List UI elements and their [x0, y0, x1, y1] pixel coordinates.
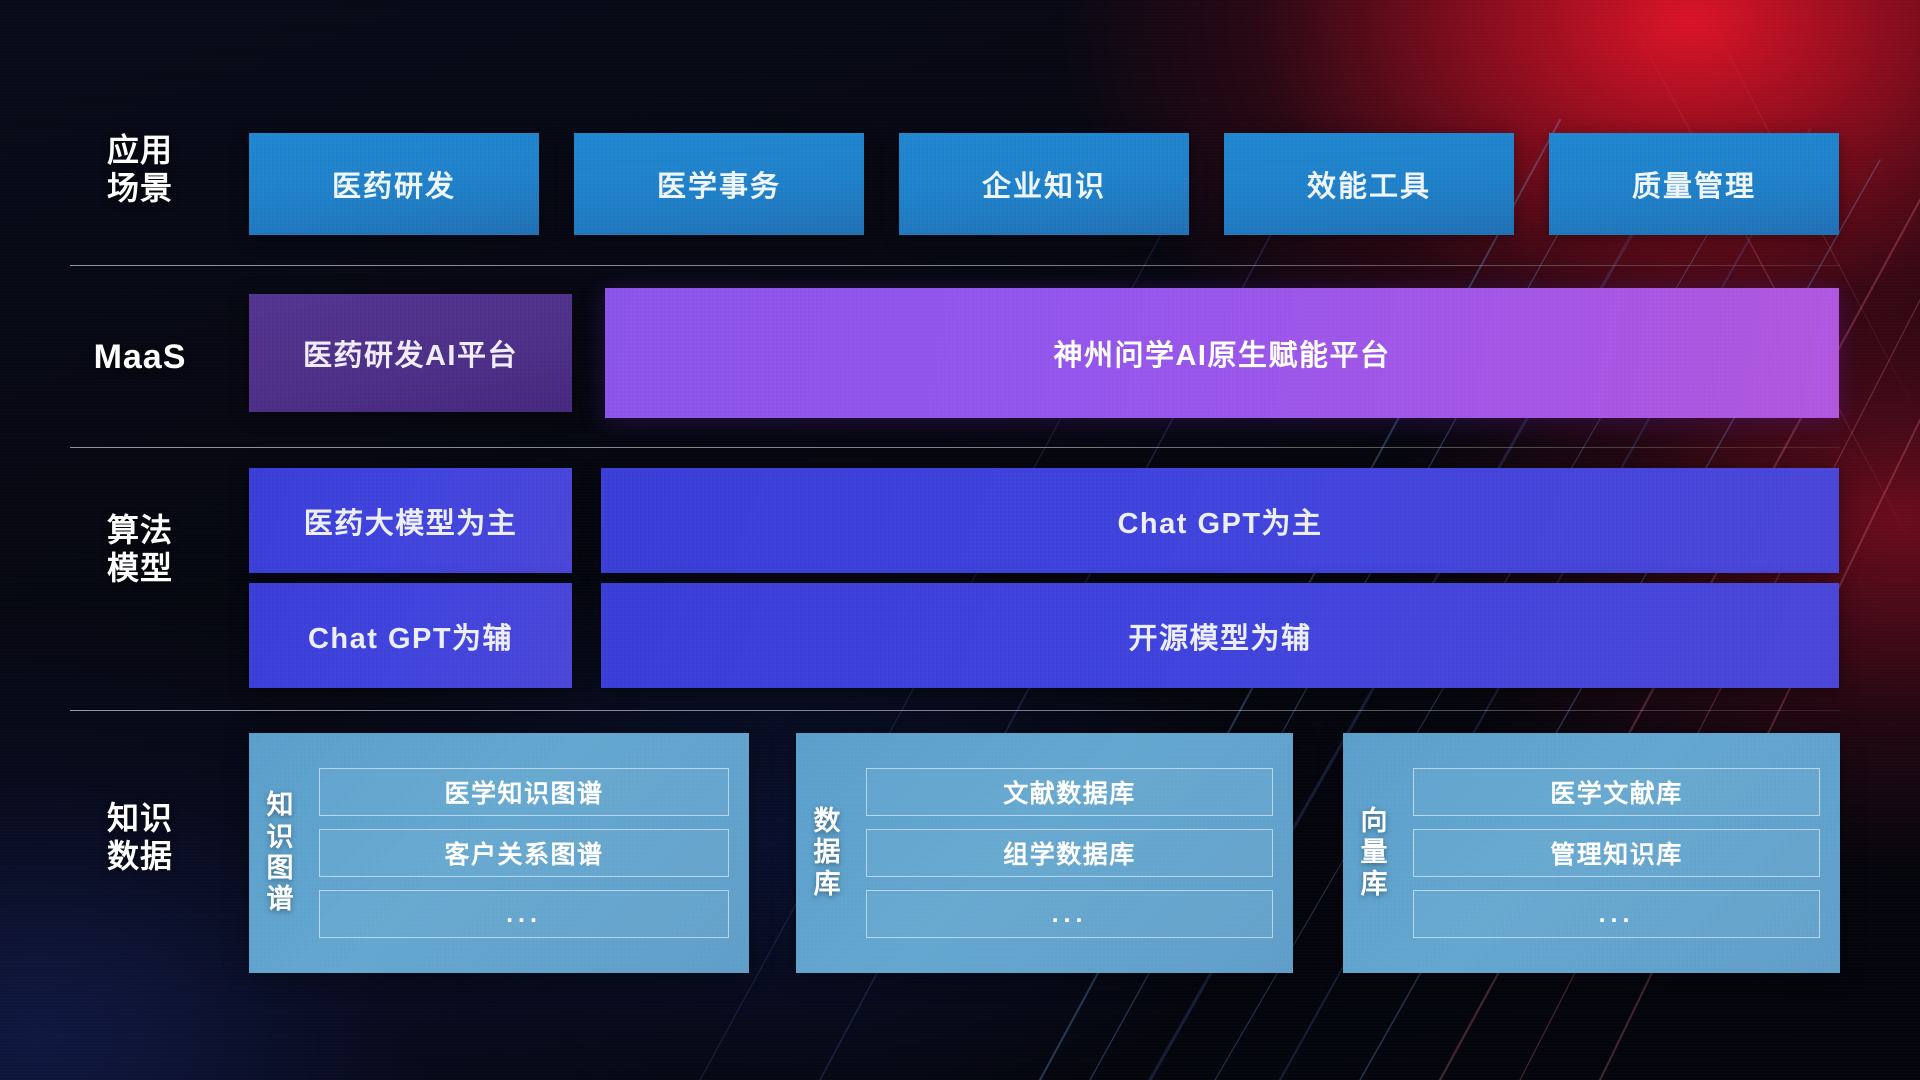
- scenario-box-4[interactable]: 效能工具: [1224, 133, 1514, 235]
- knowledge-panel-database-title-char-3: 库: [814, 869, 841, 900]
- row-label-maas-line1: MaaS: [80, 337, 200, 377]
- divider-scenario-maas: [70, 265, 1840, 266]
- knowledge-panel-vector-title: 向 量 库: [1343, 733, 1405, 973]
- maas-platform-box-left-label: 医药研发AI平台: [303, 332, 518, 374]
- row-label-scenario: 应用 场景: [80, 132, 200, 208]
- algorithm-box-primary-left[interactable]: 医药大模型为主: [249, 468, 572, 573]
- knowledge-item-medical-literature[interactable]: 医学文献库: [1413, 768, 1820, 816]
- knowledge-panel-vector[interactable]: 向 量 库 医学文献库 管理知识库 ...: [1343, 733, 1840, 973]
- knowledge-item-customer-graph[interactable]: 客户关系图谱: [319, 829, 729, 877]
- row-label-algorithm-line1: 算法: [80, 512, 200, 550]
- knowledge-item-management-kb[interactable]: 管理知识库: [1413, 829, 1820, 877]
- algorithm-box-secondary-left-label: Chat GPT为辅: [308, 615, 513, 657]
- row-label-knowledge: 知识 数据: [80, 800, 200, 876]
- knowledge-item-graph-more[interactable]: ...: [319, 890, 729, 938]
- knowledge-item-vector-more[interactable]: ...: [1413, 890, 1820, 938]
- knowledge-panel-vector-title-char-3: 库: [1361, 869, 1388, 900]
- algorithm-box-secondary-left[interactable]: Chat GPT为辅: [249, 583, 572, 688]
- scenario-box-2[interactable]: 医学事务: [574, 133, 864, 235]
- scenario-box-1[interactable]: 医药研发: [249, 133, 539, 235]
- algorithm-box-primary-right-label: Chat GPT为主: [1117, 500, 1322, 542]
- knowledge-panel-graph-items: 医学知识图谱 客户关系图谱 ...: [311, 733, 749, 973]
- knowledge-panel-database[interactable]: 数 据 库 文献数据库 组学数据库 ...: [796, 733, 1293, 973]
- algorithm-box-secondary-right-label: 开源模型为辅: [1128, 615, 1311, 657]
- scenario-box-2-label: 医学事务: [657, 163, 781, 205]
- scenario-box-5-label: 质量管理: [1632, 163, 1756, 205]
- row-label-knowledge-line1: 知识: [80, 800, 200, 838]
- knowledge-panel-graph-title-char-3: 图: [267, 853, 294, 884]
- knowledge-panel-vector-items: 医学文献库 管理知识库 ...: [1405, 733, 1840, 973]
- knowledge-panel-database-title-char-2: 据: [814, 837, 841, 868]
- knowledge-panel-graph[interactable]: 知 识 图 谱 医学知识图谱 客户关系图谱 ...: [249, 733, 749, 973]
- row-label-scenario-line1: 应用: [80, 132, 200, 170]
- algorithm-box-primary-left-label: 医药大模型为主: [304, 500, 518, 542]
- knowledge-item-literature-db[interactable]: 文献数据库: [866, 768, 1273, 816]
- divider-maas-algorithm: [70, 447, 1840, 448]
- maas-platform-box-left[interactable]: 医药研发AI平台: [249, 294, 572, 412]
- knowledge-panel-vector-title-char-1: 向: [1361, 806, 1388, 837]
- knowledge-panel-graph-title-char-2: 识: [267, 822, 294, 853]
- slide-canvas: 应用 场景 医药研发 医学事务 企业知识 效能工具 质量管理 MaaS 医药研发…: [0, 0, 1920, 1080]
- scenario-box-5[interactable]: 质量管理: [1549, 133, 1839, 235]
- scenario-box-3-label: 企业知识: [982, 163, 1106, 205]
- row-label-knowledge-line2: 数据: [80, 838, 200, 876]
- knowledge-panel-database-title-char-1: 数: [814, 806, 841, 837]
- maas-platform-box-right[interactable]: 神州问学AI原生赋能平台: [605, 288, 1839, 418]
- row-label-maas: MaaS: [80, 337, 200, 377]
- divider-algorithm-knowledge: [70, 710, 1840, 711]
- scenario-box-1-label: 医药研发: [332, 163, 456, 205]
- knowledge-panel-database-items: 文献数据库 组学数据库 ...: [858, 733, 1293, 973]
- knowledge-item-omics-db[interactable]: 组学数据库: [866, 829, 1273, 877]
- algorithm-box-secondary-right[interactable]: 开源模型为辅: [601, 583, 1839, 688]
- scenario-box-4-label: 效能工具: [1307, 163, 1431, 205]
- knowledge-item-database-more[interactable]: ...: [866, 890, 1273, 938]
- knowledge-panel-vector-title-char-2: 量: [1361, 837, 1388, 868]
- knowledge-panel-graph-title-char-4: 谱: [267, 884, 294, 915]
- knowledge-item-medical-graph[interactable]: 医学知识图谱: [319, 768, 729, 816]
- knowledge-panel-graph-title: 知 识 图 谱: [249, 733, 311, 973]
- maas-platform-box-right-label: 神州问学AI原生赋能平台: [1053, 332, 1390, 374]
- knowledge-panel-database-title: 数 据 库: [796, 733, 858, 973]
- row-label-algorithm: 算法 模型: [80, 512, 200, 588]
- scenario-box-3[interactable]: 企业知识: [899, 133, 1189, 235]
- row-label-algorithm-line2: 模型: [80, 550, 200, 588]
- algorithm-box-primary-right[interactable]: Chat GPT为主: [601, 468, 1839, 573]
- row-label-scenario-line2: 场景: [80, 170, 200, 208]
- knowledge-panel-graph-title-char-1: 知: [267, 790, 294, 821]
